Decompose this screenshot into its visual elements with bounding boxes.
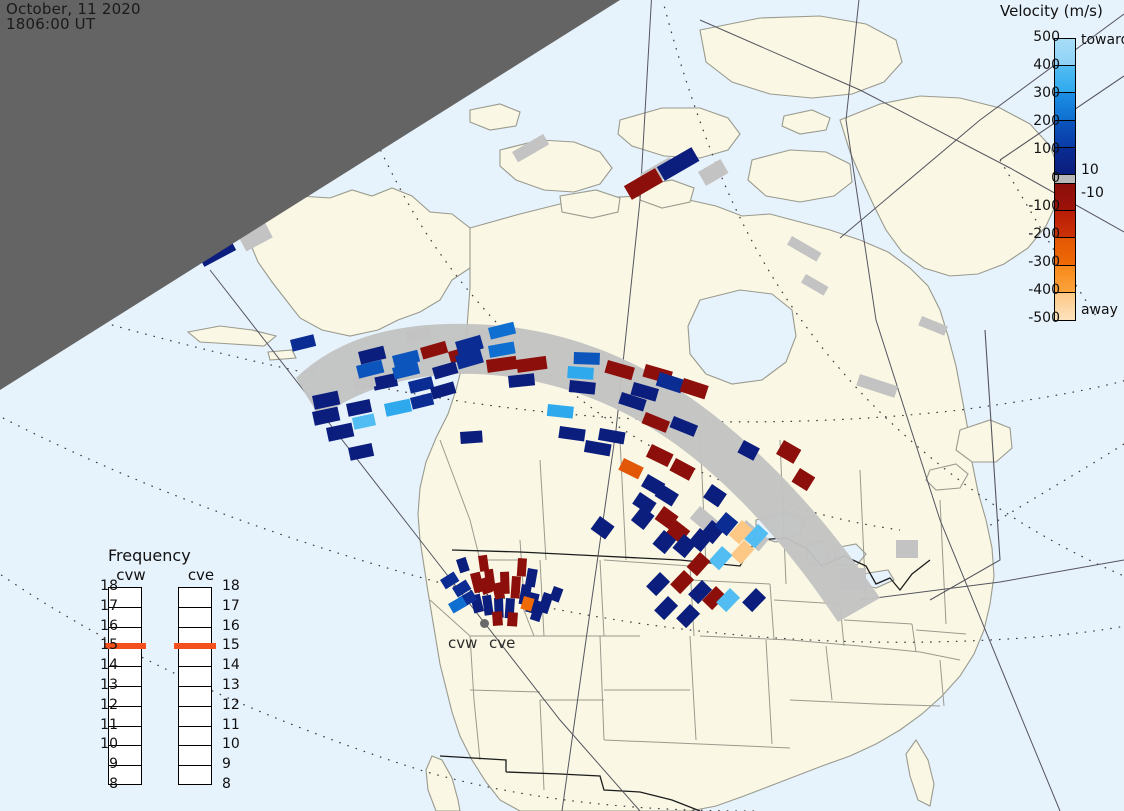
velocity-tick-label: -300	[1004, 254, 1060, 270]
velocity-tick-label: 400	[1004, 57, 1060, 73]
velocity-toward-label: toward	[1081, 32, 1124, 48]
frequency-scale-label: 14	[96, 657, 118, 673]
velocity-zero-lower-label: -10	[1081, 185, 1104, 201]
frequency-scale-label: 13	[96, 677, 118, 693]
site-label-cvw: cvw	[448, 634, 477, 652]
frequency-scale-label: 18	[222, 578, 244, 594]
frequency-scale-label: 17	[96, 598, 118, 614]
velocity-tick-label: 0	[1004, 170, 1060, 186]
radar-site-marker	[480, 619, 489, 628]
frequency-scale-label: 10	[222, 736, 244, 752]
frequency-radar-name: cve	[178, 566, 224, 584]
frequency-scale-label: 14	[222, 657, 244, 673]
frequency-scale-label: 17	[222, 598, 244, 614]
frequency-legend-title: Frequency	[108, 546, 191, 565]
radar-map-figure: October, 11 2020 1806:00 UT Velocity (m/…	[0, 0, 1124, 811]
velocity-tick-label: 500	[1004, 29, 1060, 45]
frequency-scale-label: 16	[96, 618, 118, 634]
frequency-scale-label: 12	[222, 697, 244, 713]
frequency-cell	[179, 746, 211, 766]
velocity-colorbar-title: Velocity (m/s)	[1000, 2, 1103, 20]
velocity-tick-label: -400	[1004, 282, 1060, 298]
frequency-cell	[179, 766, 211, 786]
frequency-marker	[174, 643, 216, 649]
velocity-colorbar: Velocity (m/s) 5004003002001000-100-200-…	[986, 2, 1122, 332]
velocity-tick-label: 300	[1004, 85, 1060, 101]
frequency-scale-label: 12	[96, 697, 118, 713]
frequency-cell	[179, 707, 211, 727]
frequency-scale-label: 13	[222, 677, 244, 693]
frequency-scale-label: 10	[96, 736, 118, 752]
site-label-cve: cve	[489, 634, 515, 652]
frequency-scale-label: 15	[222, 637, 244, 653]
frequency-scale-label: 8	[96, 776, 118, 792]
frequency-scale-label: 9	[222, 756, 244, 772]
frequency-cell	[179, 588, 211, 608]
aleutian-island-2	[268, 350, 296, 360]
north-america-mainland	[418, 196, 994, 811]
frequency-cell	[179, 687, 211, 707]
frequency-scale-label: 11	[222, 717, 244, 733]
velocity-zero-upper-label: 10	[1081, 162, 1099, 178]
frequency-scale-label: 15	[96, 637, 118, 653]
timestamp-time: 1806:00 UT	[6, 17, 141, 32]
frequency-bar	[178, 587, 212, 785]
frequency-scale-label: 11	[96, 717, 118, 733]
frequency-scale-label: 18	[96, 578, 118, 594]
frequency-cell	[179, 727, 211, 747]
frequency-scale-label: 8	[222, 776, 244, 792]
frequency-scale-label: 9	[96, 756, 118, 772]
velocity-tick-label: -200	[1004, 226, 1060, 242]
frequency-scale-label: 16	[222, 618, 244, 634]
frequency-legend: Frequency cvw18171615141312111098cve1817…	[90, 546, 250, 786]
velocity-away-label: away	[1081, 302, 1118, 318]
velocity-tick-label: -500	[1004, 310, 1060, 326]
frequency-cell	[179, 647, 211, 667]
velocity-tick-label: -100	[1004, 198, 1060, 214]
frequency-cell	[179, 608, 211, 628]
frequency-cell	[179, 667, 211, 687]
velocity-tick-label: 200	[1004, 113, 1060, 129]
velocity-tick-label: 100	[1004, 141, 1060, 157]
arctic-island-4	[748, 150, 852, 202]
timestamp-block: October, 11 2020 1806:00 UT	[6, 2, 141, 32]
